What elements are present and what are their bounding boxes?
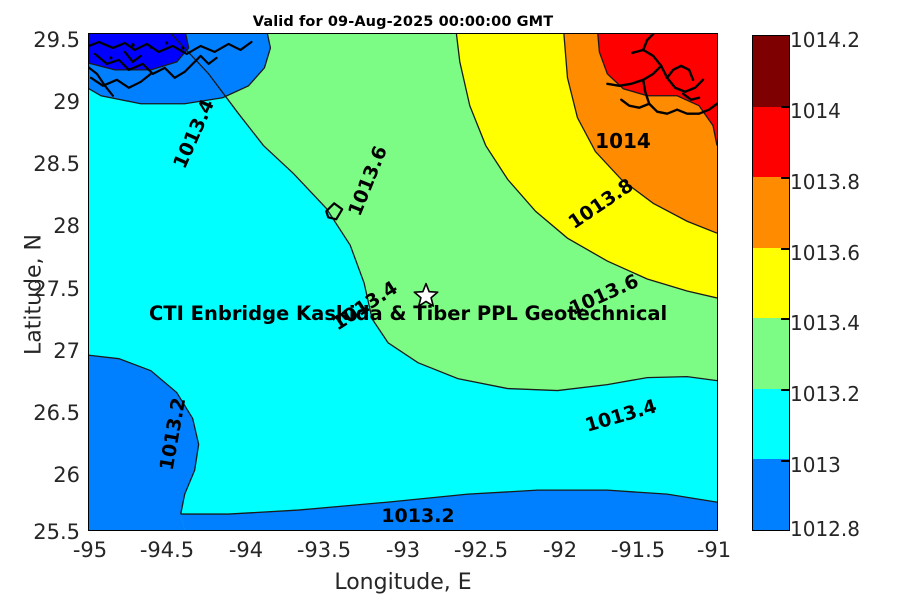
x-tick: -92.5 xyxy=(454,538,508,562)
station-annotation-label: CTI Enbridge Kaskida & Tiber PPL Geotech… xyxy=(149,302,667,325)
x-tick: -91 xyxy=(697,538,731,562)
colorbar-tick-mark xyxy=(781,248,790,250)
colorbar-tick: 1013.6 xyxy=(790,241,860,265)
page-title: Valid for 09-Aug-2025 00:00:00 GMT xyxy=(88,14,718,30)
x-tick: -94.5 xyxy=(140,538,194,562)
contour-label: 1013.2 xyxy=(381,505,454,527)
colorbar-band xyxy=(753,177,789,248)
colorbar-tick: 1013.8 xyxy=(790,170,860,194)
colorbar-band xyxy=(753,318,789,389)
y-tick: 26 xyxy=(24,463,80,487)
colorbar[interactable] xyxy=(752,35,790,531)
colorbar-tick-mark xyxy=(781,106,790,108)
y-axis-label: Latitude, N xyxy=(22,165,47,425)
contour-label: 1014 xyxy=(595,129,651,153)
colorbar-band xyxy=(753,36,789,107)
colorbar-tick: 1014 xyxy=(790,99,841,123)
x-tick: -93 xyxy=(386,538,420,562)
colorbar-band xyxy=(753,248,789,319)
colorbar-tick-mark xyxy=(781,177,790,179)
colorbar-tick: 1012.8 xyxy=(790,517,860,541)
colorbar-tick-mark xyxy=(781,389,790,391)
x-tick: -94 xyxy=(229,538,263,562)
y-tick: 29 xyxy=(24,90,80,114)
colorbar-tick: 1013.4 xyxy=(790,311,860,335)
x-axis-ticks: -95 -94.5 -94 -93.5 -93 -92.5 -92 -91.5 … xyxy=(0,538,900,568)
colorbar-tick-mark xyxy=(781,460,790,462)
y-tick: 29.5 xyxy=(24,28,80,52)
x-tick: -95 xyxy=(73,538,107,562)
colorbar-tick: 1013.2 xyxy=(790,382,860,406)
x-tick: -91.5 xyxy=(611,538,665,562)
colorbar-band xyxy=(753,389,789,460)
x-axis-label: Longitude, E xyxy=(88,570,718,595)
colorbar-tick-mark xyxy=(781,318,790,320)
x-tick: -93.5 xyxy=(297,538,351,562)
colorbar-band xyxy=(753,107,789,178)
contour-plot[interactable]: 1013.4 1013.6 1013.8 1014 1013.4 1013.6 … xyxy=(88,33,718,531)
x-tick: -92 xyxy=(543,538,577,562)
colorbar-tick: 1014.2 xyxy=(790,28,860,52)
colorbar-band xyxy=(753,459,789,530)
colorbar-tick: 1013 xyxy=(790,453,841,477)
